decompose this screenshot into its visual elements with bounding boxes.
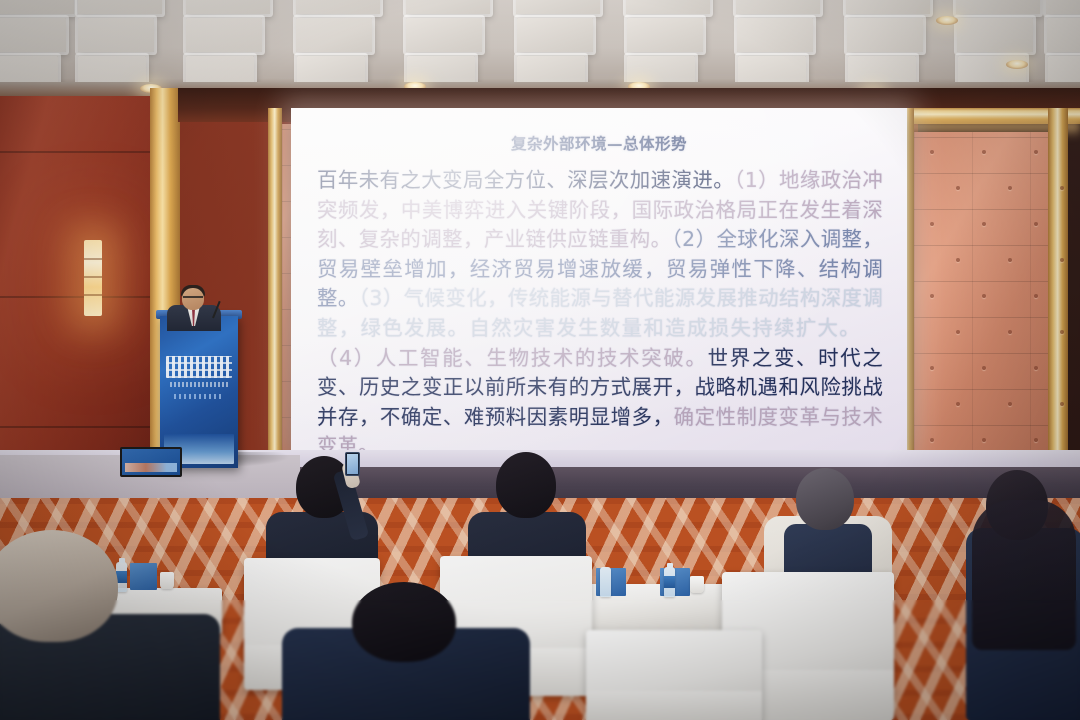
upholstery-tuft xyxy=(930,222,934,226)
upholstery-tuft xyxy=(1008,186,1012,190)
ceiling-coffer xyxy=(956,0,1040,14)
wall-sconce xyxy=(84,240,102,316)
ceiling-coffer xyxy=(737,18,813,52)
podium-banner-subtitle-2 xyxy=(174,394,224,399)
upholstery-tuft xyxy=(982,294,986,298)
upholstery-tuft xyxy=(1008,258,1012,262)
upholstery-tuft xyxy=(1060,258,1064,262)
table-card-stand xyxy=(130,563,157,590)
upholstery-tuft xyxy=(1034,294,1038,298)
slide-body: 百年未有之大变局全方位、深层次加速演进。（1）地缘政治冲突频发，中美博弈进入关键… xyxy=(317,166,883,450)
upholstery-tuft xyxy=(1060,402,1064,406)
recessed-downlight-icon xyxy=(936,16,958,25)
upholstery-tuft xyxy=(956,258,960,262)
upholstery-tuft xyxy=(1008,330,1012,334)
upholstery-tuft xyxy=(982,366,986,370)
ceiling-coffer xyxy=(627,18,703,52)
ceiling-coffer xyxy=(186,18,262,52)
slide-text-segment: （3）气候变化，传统能源与替代能源发展推动结构深度调整，绿色发展。自然灾害发生数… xyxy=(317,286,883,340)
ceiling-coffer xyxy=(406,0,490,14)
ceiling-coffer xyxy=(78,0,162,14)
upholstery-tuft xyxy=(956,402,960,406)
upholstery-tuft xyxy=(930,150,934,154)
recessed-downlight-icon xyxy=(1006,60,1028,69)
slide-text-segment: （4）人工智能、生物技术的技术突破。 xyxy=(317,346,708,370)
speaker-glasses-icon xyxy=(183,296,203,303)
ceiling-coffer xyxy=(517,18,593,52)
upholstery-tuft xyxy=(930,438,934,442)
upholstery-tuft xyxy=(956,330,960,334)
upholstery-tuft xyxy=(930,294,934,298)
ceiling-coffer xyxy=(296,18,372,52)
ceiling-coffer xyxy=(516,0,600,14)
slide-surface: 复杂外部环境—总体形势 百年未有之大变局全方位、深层次加速演进。（1）地缘政治冲… xyxy=(291,108,907,450)
upholstery-tuft xyxy=(956,186,960,190)
ceiling-coffer xyxy=(406,18,482,52)
upholstery-tuft xyxy=(1060,330,1064,334)
paper-cup xyxy=(690,576,704,593)
ceiling-coffer xyxy=(296,0,380,14)
ceiling-coffer xyxy=(1046,0,1080,14)
slide-text-segment: 百年未有之大变局全方位、深层次加速演进。 xyxy=(317,168,734,192)
paper-cup xyxy=(160,572,174,589)
coffered-ceiling-grid xyxy=(0,0,1080,86)
podium-banner-title xyxy=(166,356,232,378)
upholstery-tuft xyxy=(982,438,986,442)
upholstery-tuft xyxy=(982,150,986,154)
smartphone-icon xyxy=(345,452,360,476)
upholstery-tuft xyxy=(982,222,986,226)
ceiling-coffer xyxy=(957,18,1033,52)
ceiling-coffer xyxy=(186,0,270,14)
ceiling-coffer xyxy=(846,0,930,14)
upholstery-tuft xyxy=(1034,150,1038,154)
white-armchair xyxy=(586,630,762,720)
gold-trim-left-of-screen xyxy=(268,108,282,456)
padded-leather-panel-right xyxy=(914,132,1048,498)
gold-pillar-right xyxy=(1048,108,1068,498)
upholstery-tuft xyxy=(1034,438,1038,442)
water-bottle xyxy=(664,567,675,597)
ceiling-coffer xyxy=(1047,18,1080,52)
conference-photo-scene: 复杂外部环境—总体形势 百年未有之大变局全方位、深层次加速演进。（1）地缘政治冲… xyxy=(0,0,1080,720)
projection-screen: 复杂外部环境—总体形势 百年未有之大变局全方位、深层次加速演进。（1）地缘政治冲… xyxy=(291,108,907,450)
slide-title: 复杂外部环境—总体形势 xyxy=(291,132,907,154)
water-bottle xyxy=(600,567,611,597)
upholstery-tuft xyxy=(1008,402,1012,406)
stage-confidence-monitor xyxy=(120,447,182,477)
ceiling-coffer xyxy=(626,0,710,14)
conference-podium xyxy=(160,316,238,468)
upholstery-tuft xyxy=(1034,366,1038,370)
ceiling-coffer xyxy=(0,18,66,52)
upholstery-tuft xyxy=(1060,186,1064,190)
ceiling-coffer xyxy=(0,0,74,14)
ceiling-coffer xyxy=(847,18,923,52)
upholstery-tuft xyxy=(1034,222,1038,226)
podium-banner-subtitle xyxy=(170,382,228,387)
ceiling-coffer xyxy=(736,0,820,14)
ceiling-coffer xyxy=(78,18,154,52)
upholstery-tuft xyxy=(930,366,934,370)
